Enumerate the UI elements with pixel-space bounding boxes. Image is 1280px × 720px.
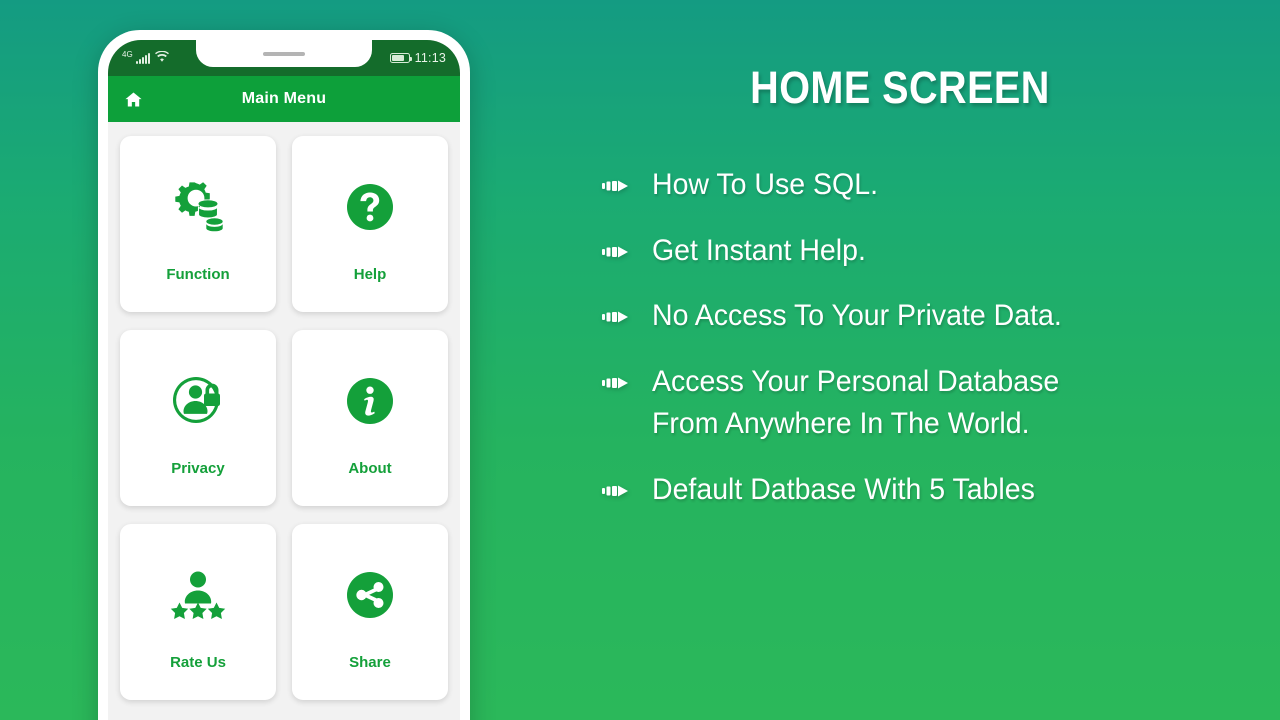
network-type-label: 4G [122,51,133,59]
phone-screen: 4G 11:13 Mai [108,40,460,720]
wifi-icon [155,51,169,65]
status-bar-clock: 11:13 [415,51,446,65]
phone-notch [196,40,372,67]
status-bar-right: 11:13 [390,51,446,65]
list-item: How To Use SQL. [602,164,1240,207]
bullet-text: How To Use SQL. [652,164,878,207]
tile-label: Privacy [171,460,224,477]
gear-database-icon [170,170,226,244]
list-item: Get Instant Help. [602,230,1240,273]
arrow-bullet-icon [602,484,634,498]
menu-tile-grid: Function Help [108,122,460,714]
page-title: HOME SCREEN [601,62,1199,114]
question-circle-icon [346,170,394,244]
app-bar: Main Menu [108,76,460,122]
tile-rate-us[interactable]: Rate Us [120,524,276,700]
signal-bars-icon [136,53,150,64]
app-bar-title: Main Menu [108,90,460,108]
person-stars-icon [169,558,227,632]
list-item: Default Datbase With 5 Tables [602,469,1240,512]
arrow-bullet-icon [602,179,634,193]
tile-help[interactable]: Help [292,136,448,312]
list-item: No Access To Your Private Data. [602,295,1240,338]
tile-about[interactable]: About [292,330,448,506]
bullet-text: No Access To Your Private Data. [652,295,1062,338]
tile-label: Function [166,266,229,283]
phone-mockup: 4G 11:13 Mai [98,30,470,720]
feature-panel: HOME SCREEN How To Use SQL. [520,0,1280,720]
arrow-bullet-icon [602,310,634,324]
share-circle-icon [346,558,394,632]
tile-label: About [348,460,391,477]
status-bar-left: 4G [122,51,169,65]
tile-label: Help [354,266,387,283]
list-item: Access Your Personal Database From Anywh… [602,361,1240,446]
tile-privacy[interactable]: Privacy [120,330,276,506]
bullet-text: Get Instant Help. [652,230,866,273]
info-circle-icon [346,364,394,438]
tile-label: Share [349,654,391,671]
feature-bullet-list: How To Use SQL. Get Instant Help. [560,164,1240,512]
arrow-bullet-icon [602,245,634,259]
person-lock-icon [171,364,225,438]
tile-function[interactable]: Function [120,136,276,312]
status-bar: 4G 11:13 [108,40,460,76]
home-icon[interactable] [124,90,143,109]
bullet-text: Default Datbase With 5 Tables [652,469,1035,512]
tile-share[interactable]: Share [292,524,448,700]
battery-icon [390,53,410,63]
bullet-text: Access Your Personal Database From Anywh… [652,361,1059,446]
earpiece-speaker [263,52,305,56]
tile-label: Rate Us [170,654,226,671]
arrow-bullet-icon [602,376,634,390]
